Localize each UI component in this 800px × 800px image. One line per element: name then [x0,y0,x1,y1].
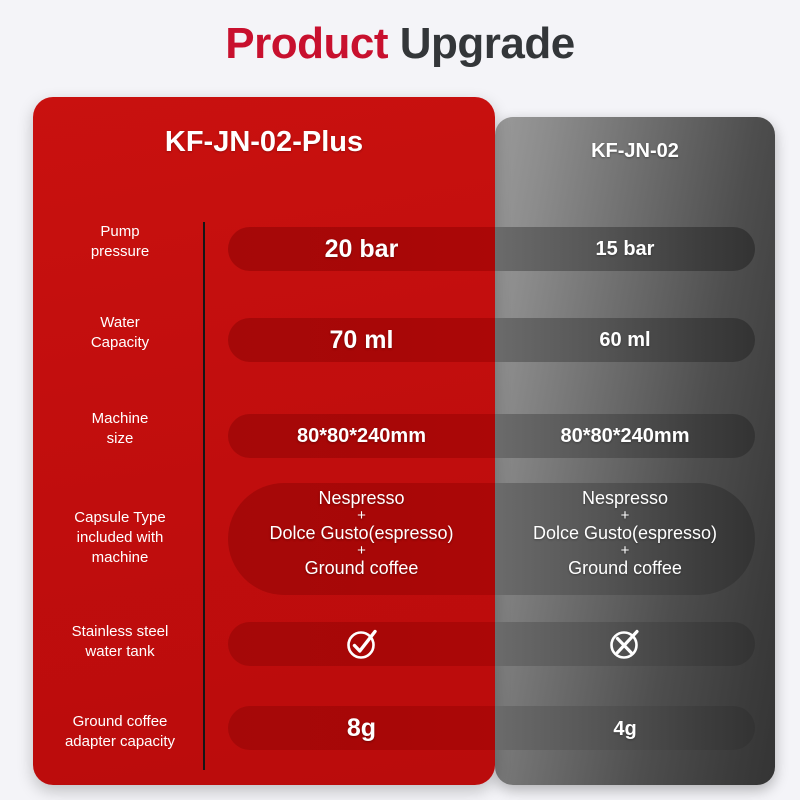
row-label: Pump pressure [40,222,200,262]
product-name-old: KF-JN-02 [495,140,775,163]
cross-circle-icon [495,622,755,666]
row-value-old: 4g [495,718,755,741]
column-divider [203,222,205,770]
row-value-new: 70 ml [228,326,495,355]
capsule-line-2: Dolce Gusto(espresso) [533,523,717,543]
row-label: Stainless steel water tank [40,622,200,662]
row-value-new: 80*80*240mm [228,425,495,448]
capsule-line-3: Ground coffee [305,558,419,578]
capsule-line-1: Nespresso [582,488,668,508]
product-name-new: KF-JN-02-Plus [33,126,495,159]
row-value-old: 80*80*240mm [495,425,755,448]
row-value-old: Nespresso + Dolce Gusto(espresso) + Grou… [495,488,755,578]
row-value-old: 15 bar [495,238,755,261]
capsule-line-1: Nespresso [318,488,404,508]
capsule-plus-2: + [495,543,755,558]
row-label: Ground coffee adapter capacity [40,712,200,752]
row-value-new: 20 bar [228,235,495,264]
row-label: Capsule Type included with machine [40,508,200,567]
capsule-plus-1: + [495,508,755,523]
capsule-plus-1: + [228,508,495,523]
capsule-plus-2: + [228,543,495,558]
row-value-old: 60 ml [495,329,755,352]
row-label: Machine size [40,409,200,449]
comparison-board: KF-JN-02-Plus KF-JN-02 Pump pressure 20 … [0,0,800,800]
row-value-new: 8g [228,714,495,743]
capsule-line-3: Ground coffee [568,558,682,578]
row-value-new: Nespresso + Dolce Gusto(espresso) + Grou… [228,488,495,578]
capsule-line-2: Dolce Gusto(espresso) [269,523,453,543]
check-circle-icon [228,622,495,666]
row-label: Water Capacity [40,313,200,353]
